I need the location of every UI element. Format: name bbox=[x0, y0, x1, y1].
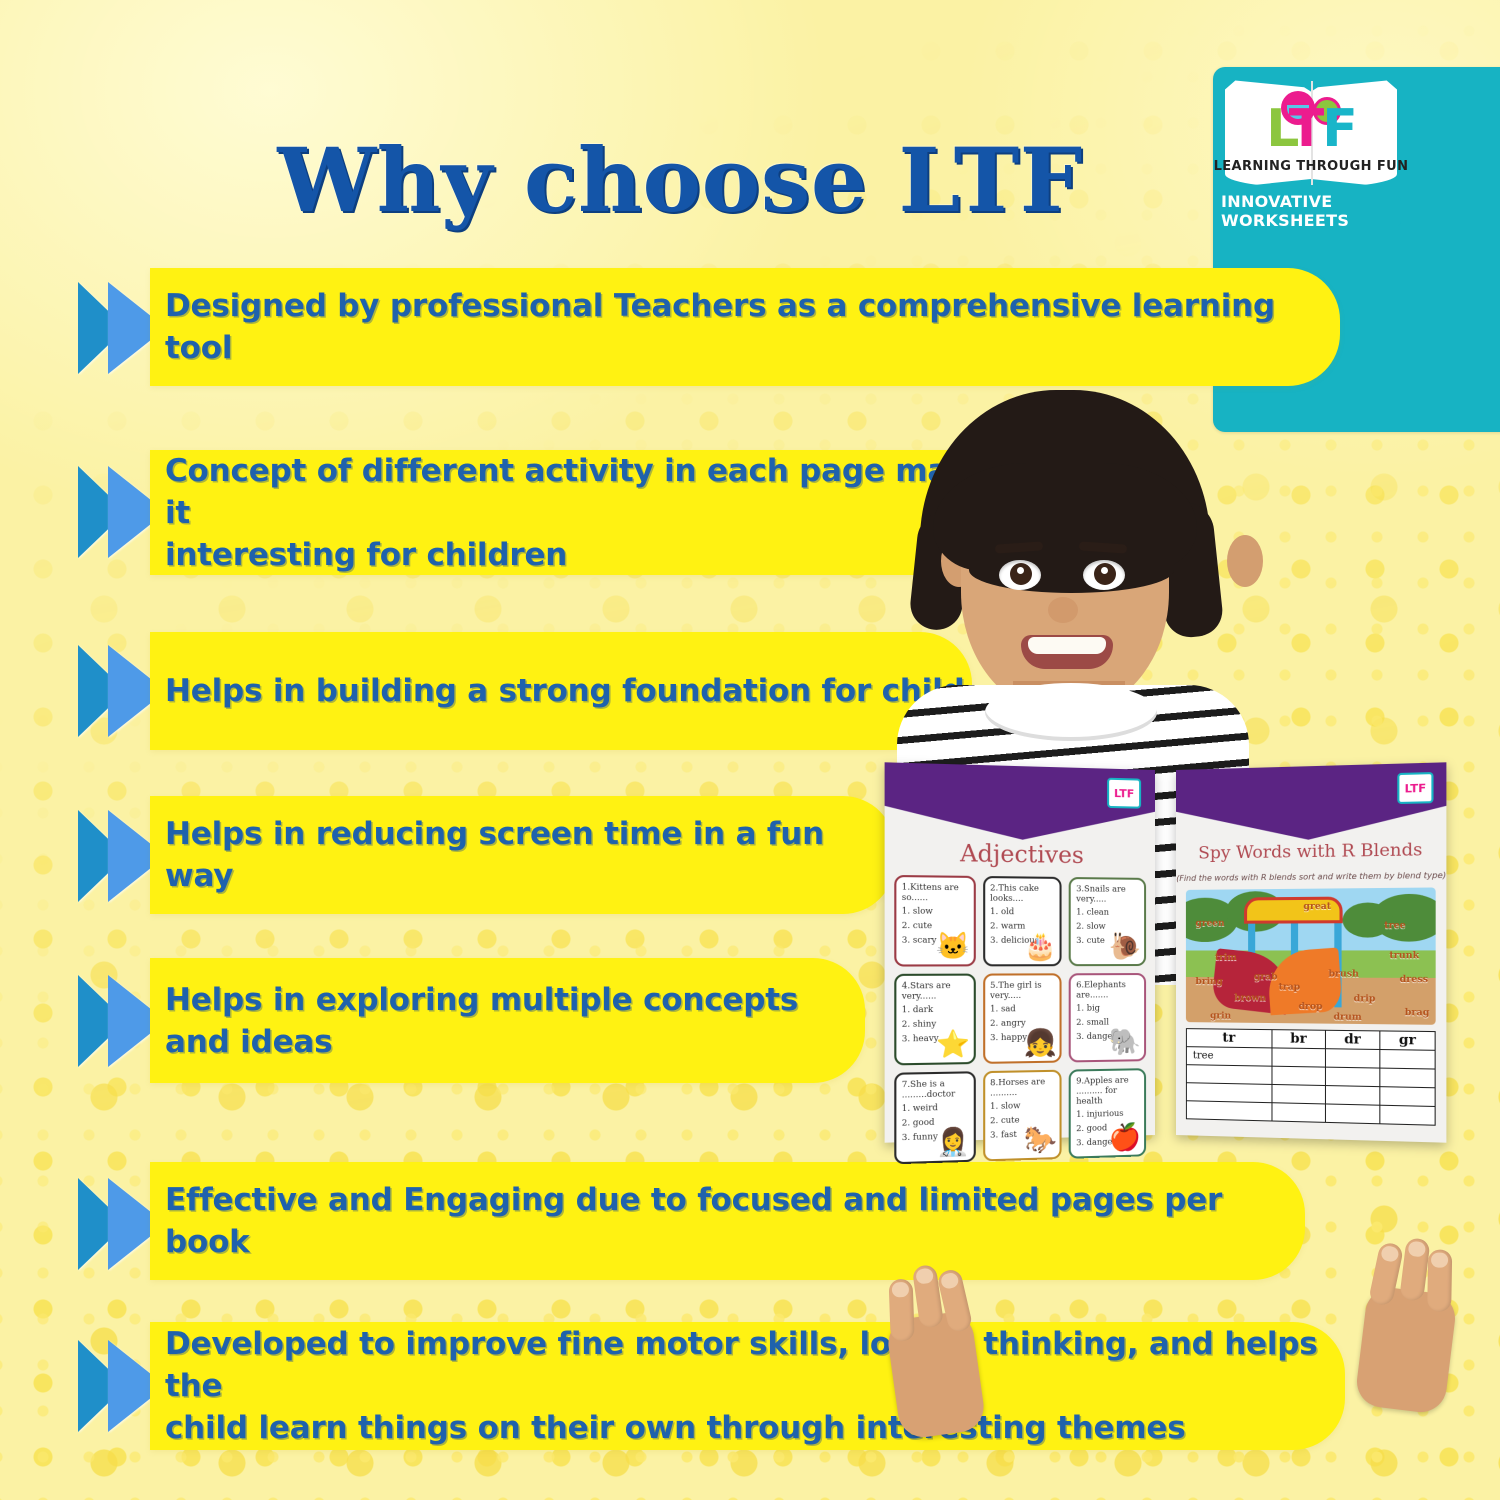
adjective-option: 1. big bbox=[1076, 1002, 1139, 1014]
adjective-question-box: 4.Stars are very......1. dark2. shiny3. … bbox=[894, 974, 975, 1066]
adjective-question-box: 8.Horses are ..........1. slow2. cute3. … bbox=[983, 1070, 1062, 1162]
left-page-title: Adjectives bbox=[885, 839, 1155, 870]
adjective-illustration: 👧 bbox=[1024, 1029, 1057, 1056]
hidden-word: grin bbox=[1210, 1012, 1231, 1022]
adjectives-question-grid: 1.Kittens are so......1. slow2. cute3. s… bbox=[894, 875, 1146, 1164]
adjective-illustration: ⭐ bbox=[936, 1030, 970, 1057]
adjective-illustration: 🐘 bbox=[1109, 1028, 1141, 1055]
adjective-question-text: 9.Apples are .......... for health bbox=[1076, 1074, 1139, 1106]
benefit-row-3: Helps in building a strong foundation fo… bbox=[150, 632, 972, 750]
adjective-question-box: 5.The girl is very.....1. sad2. angry3. … bbox=[983, 973, 1062, 1064]
eye-right bbox=[1083, 560, 1125, 590]
right-page-title: Spy Words with R Blends bbox=[1176, 839, 1446, 864]
hidden-word: brush bbox=[1328, 970, 1358, 980]
adjective-option: 1. clean bbox=[1076, 906, 1139, 917]
table-header-cell: dr bbox=[1325, 1030, 1379, 1049]
benefit-text-1: Designed by professional Teachers as a c… bbox=[150, 285, 1340, 369]
table-cell[interactable] bbox=[1325, 1067, 1379, 1087]
adjective-option: 1. injurious bbox=[1076, 1107, 1139, 1120]
hidden-word: trap bbox=[1279, 983, 1301, 993]
hidden-word: great bbox=[1303, 902, 1331, 912]
benefit-text-6: Effective and Engaging due to focused an… bbox=[150, 1179, 1305, 1263]
benefit-row-5: Helps in exploring multiple conceptsand … bbox=[150, 958, 865, 1083]
adjective-option: 1. slow bbox=[902, 905, 968, 917]
hidden-word: tree bbox=[1384, 921, 1406, 931]
logo-lettermark: LTF bbox=[1213, 103, 1409, 155]
adjective-question-box: 6.Elephants are.......1. big2. small3. d… bbox=[1069, 973, 1146, 1062]
table-cell[interactable] bbox=[1325, 1049, 1379, 1068]
benefit-row-1: Designed by professional Teachers as a c… bbox=[150, 268, 1340, 386]
adjective-option: 1. slow bbox=[990, 1099, 1055, 1112]
adjective-question-text: 3.Snails are very..... bbox=[1076, 883, 1139, 904]
table-header-cell: tr bbox=[1186, 1029, 1271, 1048]
benefit-row-7: Developed to improve fine motor skills, … bbox=[150, 1322, 1345, 1450]
benefit-row-4: Helps in reducing screen time in a fun w… bbox=[150, 796, 895, 914]
table-cell[interactable] bbox=[1380, 1049, 1435, 1069]
hidden-word: brag bbox=[1405, 1008, 1430, 1019]
hidden-word: trunk bbox=[1389, 951, 1419, 961]
adjective-question-box: 3.Snails are very.....1. clean2. slow3. … bbox=[1069, 877, 1146, 966]
table-cell[interactable]: tree bbox=[1186, 1047, 1271, 1067]
hidden-word: drip bbox=[1354, 994, 1376, 1004]
adjective-illustration: 🎂 bbox=[1024, 933, 1057, 960]
hidden-word: trim bbox=[1215, 953, 1237, 963]
adjective-illustration: 🐎 bbox=[1024, 1126, 1057, 1153]
benefit-text-3: Helps in building a strong foundation fo… bbox=[150, 670, 965, 712]
nose bbox=[1048, 597, 1078, 623]
table-cell[interactable] bbox=[1272, 1084, 1326, 1104]
workbook-right-page: LTF Spy Words with R Blends (Find the wo… bbox=[1176, 762, 1446, 1142]
adjective-illustration: 🐱 bbox=[936, 932, 970, 959]
adjective-option: 1. old bbox=[990, 906, 1055, 918]
adjective-question-box: 7.She is a .........doctor1. weird2. goo… bbox=[894, 1071, 975, 1164]
adjective-option: 1. weird bbox=[902, 1101, 968, 1114]
adjective-question-text: 8.Horses are .......... bbox=[990, 1076, 1055, 1098]
shirt-collar bbox=[985, 683, 1157, 741]
table-cell[interactable] bbox=[1186, 1101, 1271, 1121]
adjective-question-box: 1.Kittens are so......1. slow2. cute3. s… bbox=[894, 875, 975, 967]
benefit-text-7: Developed to improve fine motor skills, … bbox=[150, 1323, 1345, 1449]
adjective-option: 1. sad bbox=[990, 1003, 1055, 1015]
hidden-word: dress bbox=[1400, 975, 1429, 985]
hidden-word: brown bbox=[1234, 993, 1266, 1003]
hand-right bbox=[1354, 1285, 1458, 1415]
hair-bangs bbox=[933, 463, 1197, 571]
adjective-question-box: 2.This cake looks....1. old2. warm3. del… bbox=[983, 876, 1062, 966]
hidden-word: drum bbox=[1333, 1013, 1361, 1024]
blend-sort-table: trbrdrgrtree bbox=[1186, 1028, 1436, 1126]
table-cell[interactable] bbox=[1380, 1105, 1435, 1125]
benefit-row-6: Effective and Engaging due to focused an… bbox=[150, 1162, 1305, 1280]
table-cell[interactable] bbox=[1272, 1066, 1326, 1085]
ltf-logo: LTF LEARNING THROUGH FUN INNOVATIVE WORK… bbox=[1213, 67, 1409, 233]
logo-letter-l: L bbox=[1266, 99, 1289, 159]
adjective-question-text: 4.Stars are very...... bbox=[902, 980, 968, 1001]
table-cell[interactable] bbox=[1380, 1068, 1435, 1088]
right-page-subtitle: (Find the words with R blends sort and w… bbox=[1176, 871, 1446, 883]
logo-tagline: LEARNING THROUGH FUN bbox=[1213, 159, 1409, 174]
workbook-left-page: LTF Adjectives 1.Kittens are so......1. … bbox=[885, 762, 1155, 1142]
logo-letter-t: T bbox=[1289, 99, 1322, 159]
table-cell[interactable] bbox=[1272, 1048, 1326, 1067]
ear-right bbox=[1227, 535, 1263, 587]
left-page-mini-logo: LTF bbox=[1107, 778, 1141, 809]
table-header-cell: br bbox=[1272, 1030, 1326, 1049]
playground-word-scene: greengreattreetrimtrunkbringbrushdressbr… bbox=[1186, 887, 1436, 1024]
adjective-question-text: 1.Kittens are so...... bbox=[902, 881, 968, 902]
table-header-cell: gr bbox=[1380, 1031, 1435, 1050]
right-page-mini-logo: LTF bbox=[1397, 772, 1433, 804]
benefit-text-5: Helps in exploring multiple conceptsand … bbox=[150, 979, 798, 1063]
adjective-illustration: 👩‍⚕️ bbox=[936, 1128, 970, 1156]
logo-banner: INNOVATIVE WORKSHEETS bbox=[1221, 196, 1401, 226]
adjective-question-text: 6.Elephants are....... bbox=[1076, 979, 1139, 1000]
adjective-illustration: 🍎 bbox=[1109, 1123, 1141, 1150]
hidden-word: drop bbox=[1298, 1002, 1322, 1012]
adjective-question-text: 5.The girl is very..... bbox=[990, 979, 1055, 1000]
table-cell[interactable] bbox=[1186, 1083, 1271, 1103]
hidden-word: green bbox=[1196, 919, 1225, 929]
logo-letter-f: F bbox=[1322, 99, 1356, 159]
table-cell[interactable] bbox=[1186, 1065, 1271, 1085]
hand-left bbox=[885, 1310, 987, 1441]
table-cell[interactable] bbox=[1325, 1104, 1379, 1124]
table-cell[interactable] bbox=[1272, 1103, 1326, 1123]
adjective-question-text: 2.This cake looks.... bbox=[990, 882, 1055, 903]
promo-poster: Why choose LTF LTF LEARNING THROUGH FUN … bbox=[0, 0, 1500, 1500]
table-cell[interactable] bbox=[1325, 1086, 1379, 1106]
child-photo: LTF Adjectives 1.Kittens are so......1. … bbox=[875, 385, 1435, 1145]
mouth bbox=[1021, 635, 1113, 669]
table-cell[interactable] bbox=[1380, 1087, 1435, 1107]
hidden-word: bring bbox=[1196, 977, 1223, 987]
adjective-illustration: 🐌 bbox=[1109, 933, 1141, 959]
adjective-option: 1. dark bbox=[902, 1003, 968, 1015]
benefit-text-4: Helps in reducing screen time in a fun w… bbox=[150, 813, 895, 897]
adjective-question-box: 9.Apples are .......... for health1. inj… bbox=[1069, 1068, 1146, 1159]
eye-left bbox=[999, 560, 1041, 590]
adjective-question-text: 7.She is a .........doctor bbox=[902, 1078, 968, 1100]
open-workbook: LTF Adjectives 1.Kittens are so......1. … bbox=[893, 770, 1438, 1135]
hidden-word: grab bbox=[1254, 972, 1278, 982]
